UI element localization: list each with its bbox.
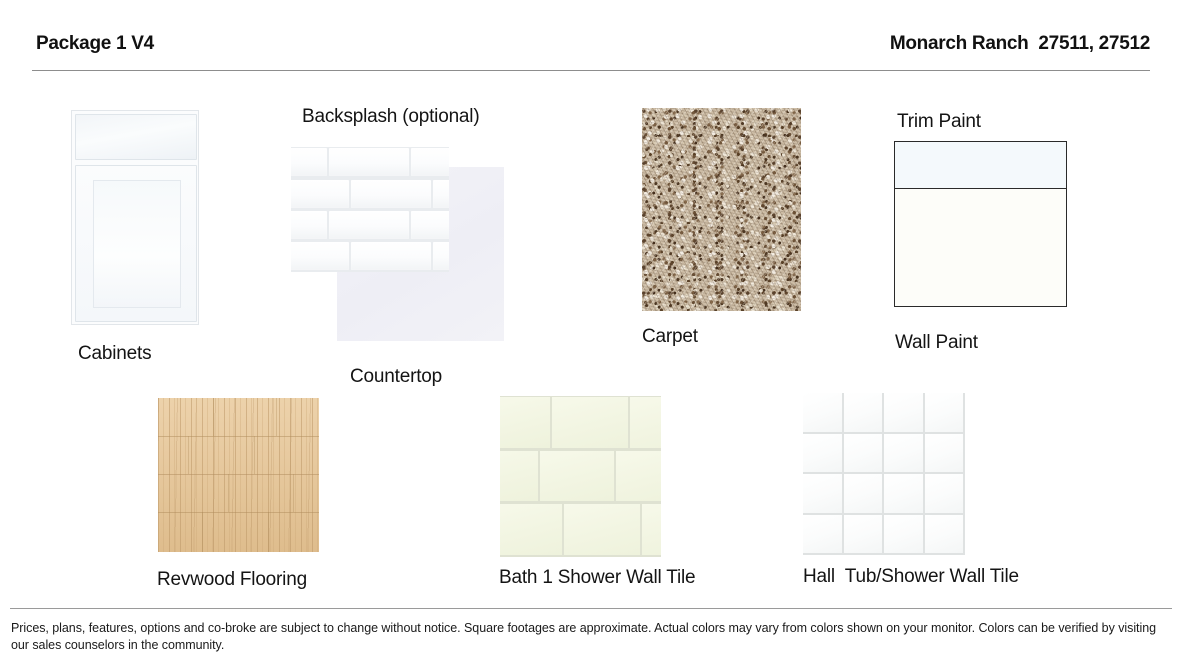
trim-paint-label: Trim Paint (897, 111, 981, 133)
hall-tile (884, 515, 923, 554)
backsplash-tile (291, 211, 327, 239)
backsplash-tile (411, 148, 449, 176)
bath1-tile (642, 504, 661, 555)
hall-tile (925, 434, 964, 473)
bath1-tile (540, 451, 614, 502)
hall-tile (844, 434, 883, 473)
hall-tile (884, 474, 923, 513)
plank-end-seam (276, 398, 277, 436)
hall-tile (803, 393, 842, 432)
trim-paint-swatch (895, 142, 1066, 189)
bath1-tile-row (500, 503, 661, 557)
hall-tile (925, 393, 964, 432)
carpet-swatch (642, 108, 801, 311)
backsplash-tile (351, 180, 431, 208)
wall-paint-swatch (895, 190, 1066, 306)
bath1-tile (500, 397, 550, 448)
community-title: Monarch Ranch 27511, 27512 (890, 33, 1150, 55)
wall-paint-label: Wall Paint (895, 332, 978, 354)
cabinet-door-recessed-panel (93, 180, 181, 308)
plank-end-seam (293, 474, 294, 512)
cabinets-label: Cabinets (78, 343, 151, 365)
backsplash-tile-row (291, 210, 449, 241)
cabinet-drawer-front (75, 114, 197, 160)
backsplash-tile-row (291, 178, 449, 209)
page-header: Package 1 V4 Monarch Ranch 27511, 27512 (0, 0, 1182, 72)
hall-tile (925, 474, 964, 513)
revwood-wood-grain (158, 398, 319, 552)
plank-seam (158, 474, 319, 475)
revwood-flooring-label: Revwood Flooring (157, 569, 307, 591)
cabinet-door-front (75, 165, 197, 322)
hall-tub-shower-wall-tile-label: Hall Tub/Shower Wall Tile (803, 566, 1019, 588)
backsplash-tile (351, 242, 431, 270)
bath1-tile (630, 397, 661, 448)
hall-tile (925, 515, 964, 554)
hall-tile (884, 393, 923, 432)
bath1-tile (616, 451, 661, 502)
backsplash-tile (433, 242, 449, 270)
bath1-shower-wall-tile-label: Bath 1 Shower Wall Tile (499, 567, 695, 589)
bath1-tile (552, 397, 628, 448)
page-title: Package 1 V4 (36, 33, 154, 55)
backsplash-tile (329, 148, 409, 176)
backsplash-tile (433, 180, 449, 208)
bath1-tile (500, 451, 538, 502)
backsplash-tile (291, 148, 327, 176)
hall-tile (803, 434, 842, 473)
plank-end-seam (213, 398, 214, 436)
backsplash-tile (291, 242, 349, 270)
backsplash-tile-row (291, 241, 449, 272)
hall-tile (803, 515, 842, 554)
backsplash-tile (329, 211, 409, 239)
plank-end-seam (254, 436, 255, 474)
hall-tile (803, 474, 842, 513)
backsplash-tile-row (291, 147, 449, 178)
hall-tile (844, 474, 883, 513)
plank-end-seam (188, 436, 189, 474)
backsplash-swatch (291, 147, 449, 272)
hall-tile (844, 393, 883, 432)
backsplash-tile (291, 180, 349, 208)
header-divider (32, 70, 1150, 71)
plank-seam (158, 512, 319, 513)
backsplash-tile (411, 211, 449, 239)
plank-end-seam (202, 512, 203, 552)
cabinets-swatch (71, 110, 199, 325)
bath1-tile-row (500, 396, 661, 450)
disclaimer-text: Prices, plans, features, options and co-… (11, 620, 1159, 653)
bath1-tile (564, 504, 640, 555)
footer-divider (10, 608, 1172, 609)
carpet-fiber-texture (642, 108, 801, 311)
plank-seam (158, 436, 319, 437)
paint-swatch-stack (894, 141, 1067, 307)
hall-tile (844, 515, 883, 554)
bath1-tile (500, 504, 562, 555)
plank-end-seam (228, 474, 229, 512)
revwood-flooring-swatch (158, 398, 319, 552)
carpet-label: Carpet (642, 326, 698, 348)
plank-end-seam (268, 512, 269, 552)
bath1-shower-wall-tile-swatch (500, 396, 661, 557)
hall-tub-shower-wall-tile-swatch (803, 393, 965, 555)
countertop-label: Countertop (350, 366, 442, 388)
bath1-tile-row (500, 450, 661, 504)
backsplash-label: Backsplash (optional) (302, 106, 479, 128)
hall-tile (884, 434, 923, 473)
